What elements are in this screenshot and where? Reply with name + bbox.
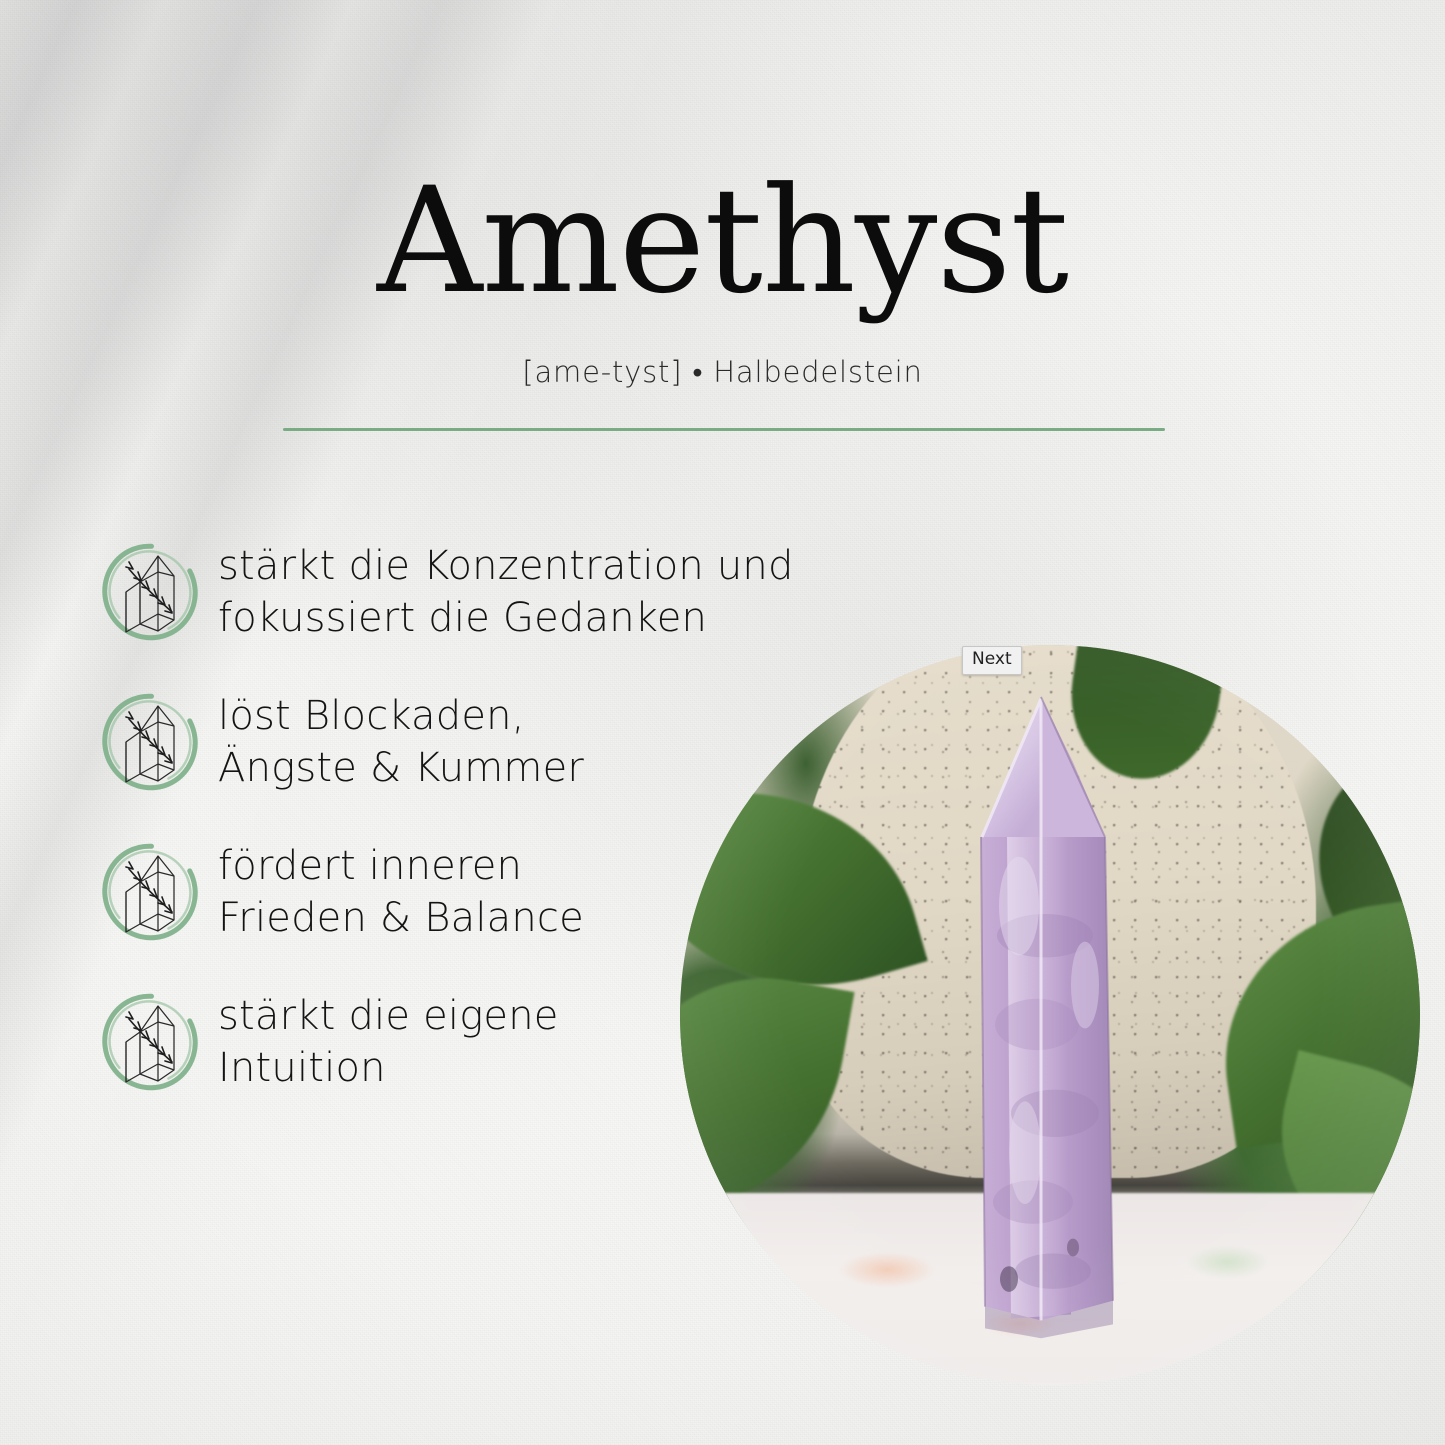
list-item: stärkt die Konzentration und fokussiert … xyxy=(96,536,796,648)
crystal-leaf-icon xyxy=(96,986,204,1098)
product-photo-circle xyxy=(680,645,1420,1385)
crystal-leaf-icon xyxy=(96,536,204,648)
divider-rule xyxy=(283,428,1165,431)
next-button[interactable]: Next xyxy=(962,646,1022,675)
list-item-label: stärkt die eigene Intuition xyxy=(218,990,559,1094)
photo-scene xyxy=(680,645,1420,1385)
page-title: Amethyst xyxy=(0,168,1445,314)
list-item-label: stärkt die Konzentration und fokussiert … xyxy=(218,540,794,644)
amethyst-crystal xyxy=(945,689,1155,1340)
page-subtitle: [ame-tyst] • Halbedelstein xyxy=(0,355,1445,390)
crystal-leaf-icon xyxy=(96,686,204,798)
crystal-leaf-icon xyxy=(96,836,204,948)
product-infographic-page: Amethyst [ame-tyst] • Halbedelstein xyxy=(0,0,1445,1445)
list-item-label: fördert inneren Frieden & Balance xyxy=(218,840,584,944)
list-item-label: löst Blockaden, Ängste & Kummer xyxy=(218,690,584,794)
